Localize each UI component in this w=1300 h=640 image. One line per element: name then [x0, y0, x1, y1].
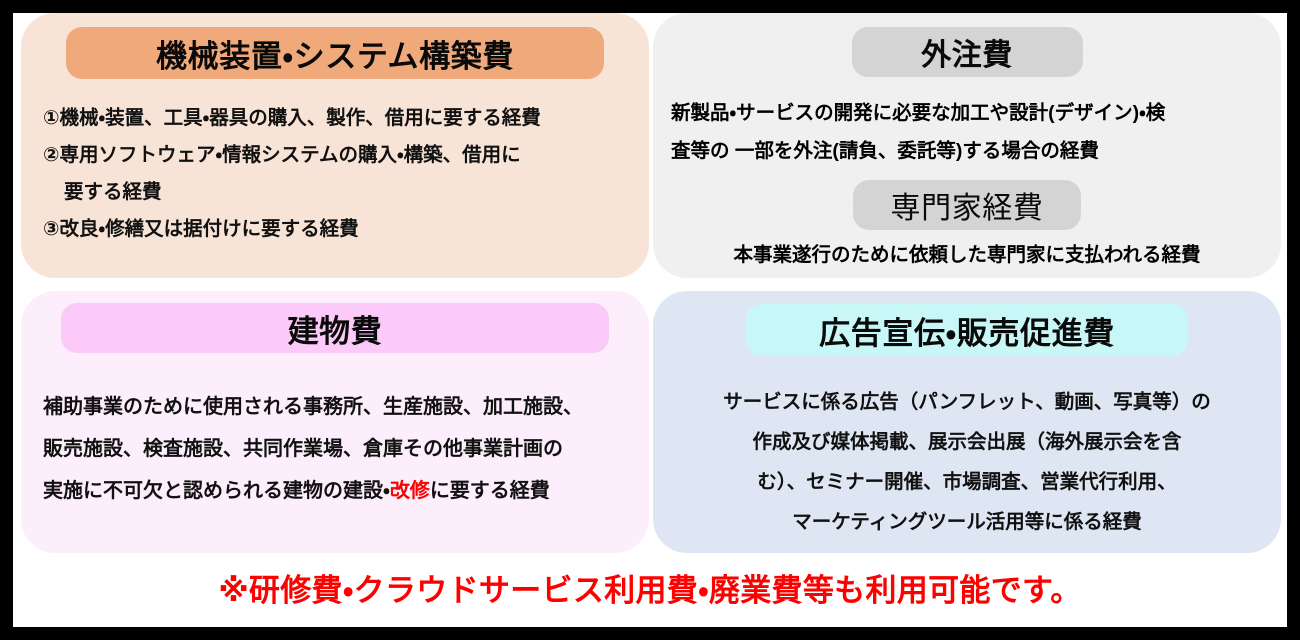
- panel-machinery-title: 機械装置・システム構築費: [66, 27, 604, 79]
- machinery-line-2: ②専用ソフトウェア・情報システムの購入・構築、借用に: [43, 137, 633, 174]
- panel-building-title: 建物費: [61, 303, 609, 353]
- expense-category-grid: 機械装置・システム構築費 ①機械・装置、工具・器具の購入、製作、借用に要する経費…: [21, 13, 1281, 553]
- advert-line-3: む）、セミナー開催、市場調査、営業代行利用、: [675, 462, 1259, 502]
- panel-expert-title: 専門家経費: [853, 180, 1081, 230]
- panel-building: 建物費 補助事業のために使用される事務所、生産施設、加工施設、 販売施設、検査施…: [21, 291, 649, 553]
- machinery-line-3: 要する経費: [43, 174, 633, 211]
- content-canvas: 機械装置・システム構築費 ①機械・装置、工具・器具の購入、製作、借用に要する経費…: [13, 13, 1287, 627]
- panel-machinery: 機械装置・システム構築費 ①機械・装置、工具・器具の購入、製作、借用に要する経費…: [21, 13, 649, 278]
- panel-advertising-title: 広告宣伝・販売促進費: [746, 304, 1188, 356]
- panel-advertising-body: サービスに係る広告（パンフレット、動画、写真等）の 作成及び媒体掲載、展示会出展…: [653, 382, 1281, 542]
- building-line-2: 販売施設、検査施設、共同作業場、倉庫その他事業計画の: [43, 428, 637, 470]
- footer-note: ※研修費・クラウドサービス利用費・廃業費等も利用可能です。: [13, 565, 1287, 610]
- outsourcing-line-1: 新製品・サービスの開発に必要な加工や設計(デザイン)・検: [671, 94, 1267, 132]
- panel-outsourcing-title: 外注費: [852, 27, 1083, 77]
- building-line-3: 実施に不可欠と認められる建物の建設・改修に要する経費: [43, 470, 637, 512]
- panel-machinery-body: ①機械・装置、工具・器具の購入、製作、借用に要する経費 ②専用ソフトウェア・情報…: [21, 100, 649, 248]
- panel-outsourcing-body: 新製品・サービスの開発に必要な加工や設計(デザイン)・検 査等の 一部を外注(請…: [653, 94, 1281, 170]
- building-line-3-prefix: 実施に不可欠と認められる建物の建設・: [43, 480, 390, 502]
- outsourcing-line-2: 査等の 一部を外注(請負、委託等)する場合の経費: [671, 132, 1267, 170]
- advert-line-2: 作成及び媒体掲載、展示会出展（海外展示会を含: [675, 422, 1259, 462]
- building-highlight-kaishu: 改修: [390, 480, 430, 502]
- machinery-line-1: ①機械・装置、工具・器具の購入、製作、借用に要する経費: [43, 100, 633, 137]
- panel-advertising: 広告宣伝・販売促進費 サービスに係る広告（パンフレット、動画、写真等）の 作成及…: [653, 291, 1281, 553]
- panel-outsourcing: 外注費 新製品・サービスの開発に必要な加工や設計(デザイン)・検 査等の 一部を…: [653, 13, 1281, 278]
- building-line-1: 補助事業のために使用される事務所、生産施設、加工施設、: [43, 386, 637, 428]
- panel-expert-body: 本事業遂行のために依頼した専門家に支払われる経費: [653, 241, 1281, 269]
- image-frame: 機械装置・システム構築費 ①機械・装置、工具・器具の購入、製作、借用に要する経費…: [0, 0, 1300, 640]
- machinery-line-4: ③改良・修繕又は据付けに要する経費: [43, 211, 633, 248]
- panel-building-body: 補助事業のために使用される事務所、生産施設、加工施設、 販売施設、検査施設、共同…: [21, 386, 649, 512]
- advert-line-4: マーケティングツール活用等に係る経費: [675, 502, 1259, 542]
- advert-line-1: サービスに係る広告（パンフレット、動画、写真等）の: [675, 382, 1259, 422]
- building-line-3-suffix: に要する経費: [430, 480, 550, 502]
